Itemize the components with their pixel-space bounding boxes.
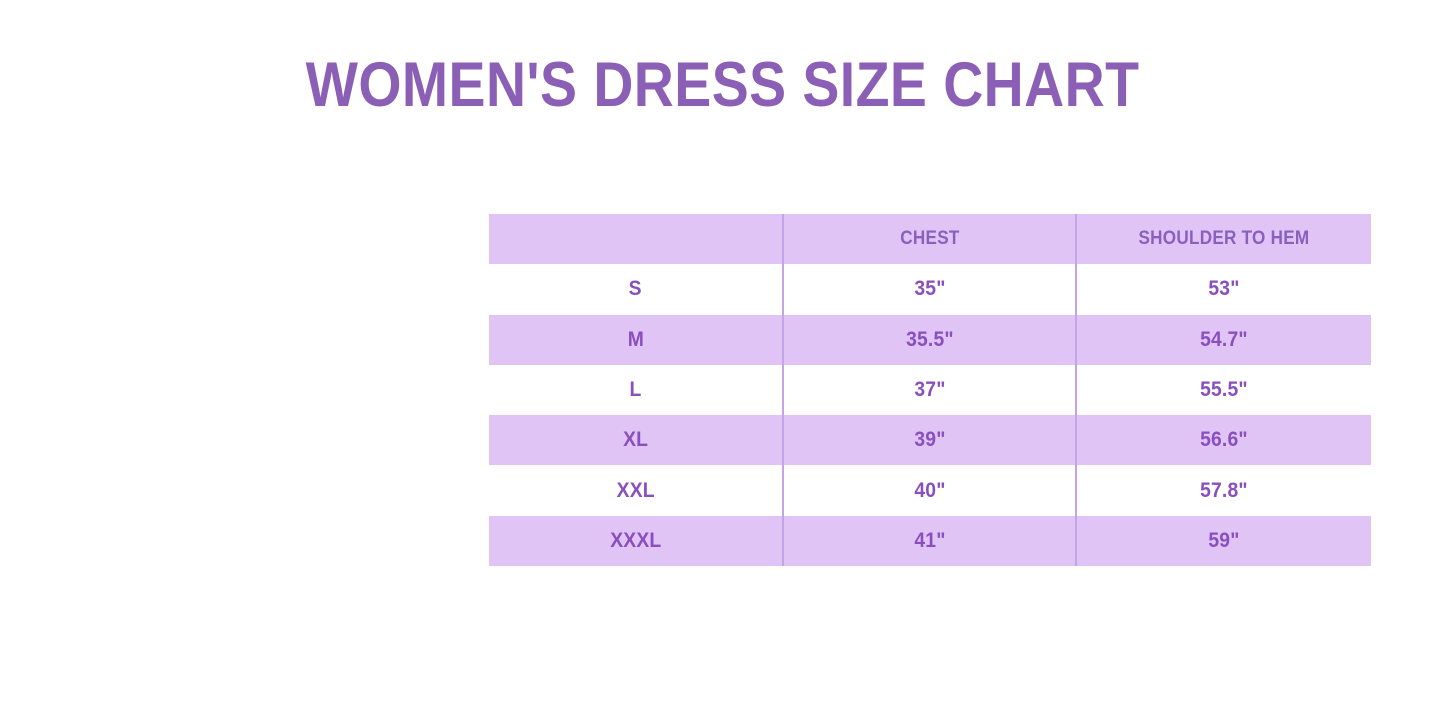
cell-shoulder-to-hem-value: 56.6" bbox=[1200, 428, 1248, 452]
cell-size: M bbox=[489, 315, 783, 365]
cell-chest: 35.5" bbox=[783, 315, 1076, 365]
table-row: M 35.5" 54.7" bbox=[489, 315, 1371, 365]
cell-size-value: XXXL bbox=[610, 529, 661, 553]
cell-size-value: XL bbox=[623, 428, 648, 452]
table-header: CHEST SHOULDER TO HEM bbox=[489, 214, 1371, 264]
cell-chest: 37" bbox=[783, 365, 1076, 415]
cell-size-value: L bbox=[630, 378, 642, 402]
cell-shoulder-to-hem-value: 55.5" bbox=[1200, 378, 1248, 402]
cell-chest-value: 35.5" bbox=[906, 328, 954, 352]
table-row: S 35" 53" bbox=[489, 264, 1371, 314]
cell-size-value: XXL bbox=[616, 479, 654, 503]
cell-shoulder-to-hem: 55.5" bbox=[1076, 365, 1371, 415]
cell-chest-value: 37" bbox=[914, 378, 945, 402]
cell-chest-value: 40" bbox=[914, 479, 945, 503]
cell-chest: 35" bbox=[783, 264, 1076, 314]
cell-shoulder-to-hem: 53" bbox=[1076, 264, 1371, 314]
cell-size: XXL bbox=[489, 465, 783, 515]
size-chart-table: CHEST SHOULDER TO HEM S 35" 53" bbox=[489, 214, 1371, 566]
cell-shoulder-to-hem-value: 53" bbox=[1208, 277, 1239, 301]
column-header-shoulder-to-hem: SHOULDER TO HEM bbox=[1076, 214, 1371, 264]
cell-shoulder-to-hem: 54.7" bbox=[1076, 315, 1371, 365]
column-header-chest-label: CHEST bbox=[900, 228, 959, 250]
cell-shoulder-to-hem-value: 59" bbox=[1208, 529, 1239, 553]
column-header-size bbox=[489, 214, 783, 264]
cell-size: XL bbox=[489, 415, 783, 465]
column-header-shoulder-to-hem-label: SHOULDER TO HEM bbox=[1139, 228, 1310, 250]
cell-shoulder-to-hem: 57.8" bbox=[1076, 465, 1371, 515]
table-row: L 37" 55.5" bbox=[489, 365, 1371, 415]
cell-size-value: S bbox=[629, 277, 642, 301]
cell-chest: 40" bbox=[783, 465, 1076, 515]
cell-size: L bbox=[489, 365, 783, 415]
cell-chest: 41" bbox=[783, 516, 1076, 566]
table-row: XXL 40" 57.8" bbox=[489, 465, 1371, 515]
cell-shoulder-to-hem: 56.6" bbox=[1076, 415, 1371, 465]
column-header-chest: CHEST bbox=[783, 214, 1076, 264]
cell-chest-value: 35" bbox=[914, 277, 945, 301]
cell-size-value: M bbox=[627, 328, 643, 352]
cell-chest: 39" bbox=[783, 415, 1076, 465]
table-body: S 35" 53" M 35.5" 54.7" bbox=[489, 264, 1371, 566]
cell-shoulder-to-hem: 59" bbox=[1076, 516, 1371, 566]
table-row: XL 39" 56.6" bbox=[489, 415, 1371, 465]
size-chart-container: CHEST SHOULDER TO HEM S 35" 53" bbox=[489, 214, 1371, 566]
cell-shoulder-to-hem-value: 57.8" bbox=[1200, 479, 1248, 503]
page-title: WOMEN'S DRESS SIZE CHART bbox=[87, 54, 1359, 117]
cell-shoulder-to-hem-value: 54.7" bbox=[1200, 328, 1248, 352]
cell-chest-value: 39" bbox=[914, 428, 945, 452]
cell-size: XXXL bbox=[489, 516, 783, 566]
table-header-row: CHEST SHOULDER TO HEM bbox=[489, 214, 1371, 264]
cell-size: S bbox=[489, 264, 783, 314]
cell-chest-value: 41" bbox=[914, 529, 945, 553]
table-row: XXXL 41" 59" bbox=[489, 516, 1371, 566]
